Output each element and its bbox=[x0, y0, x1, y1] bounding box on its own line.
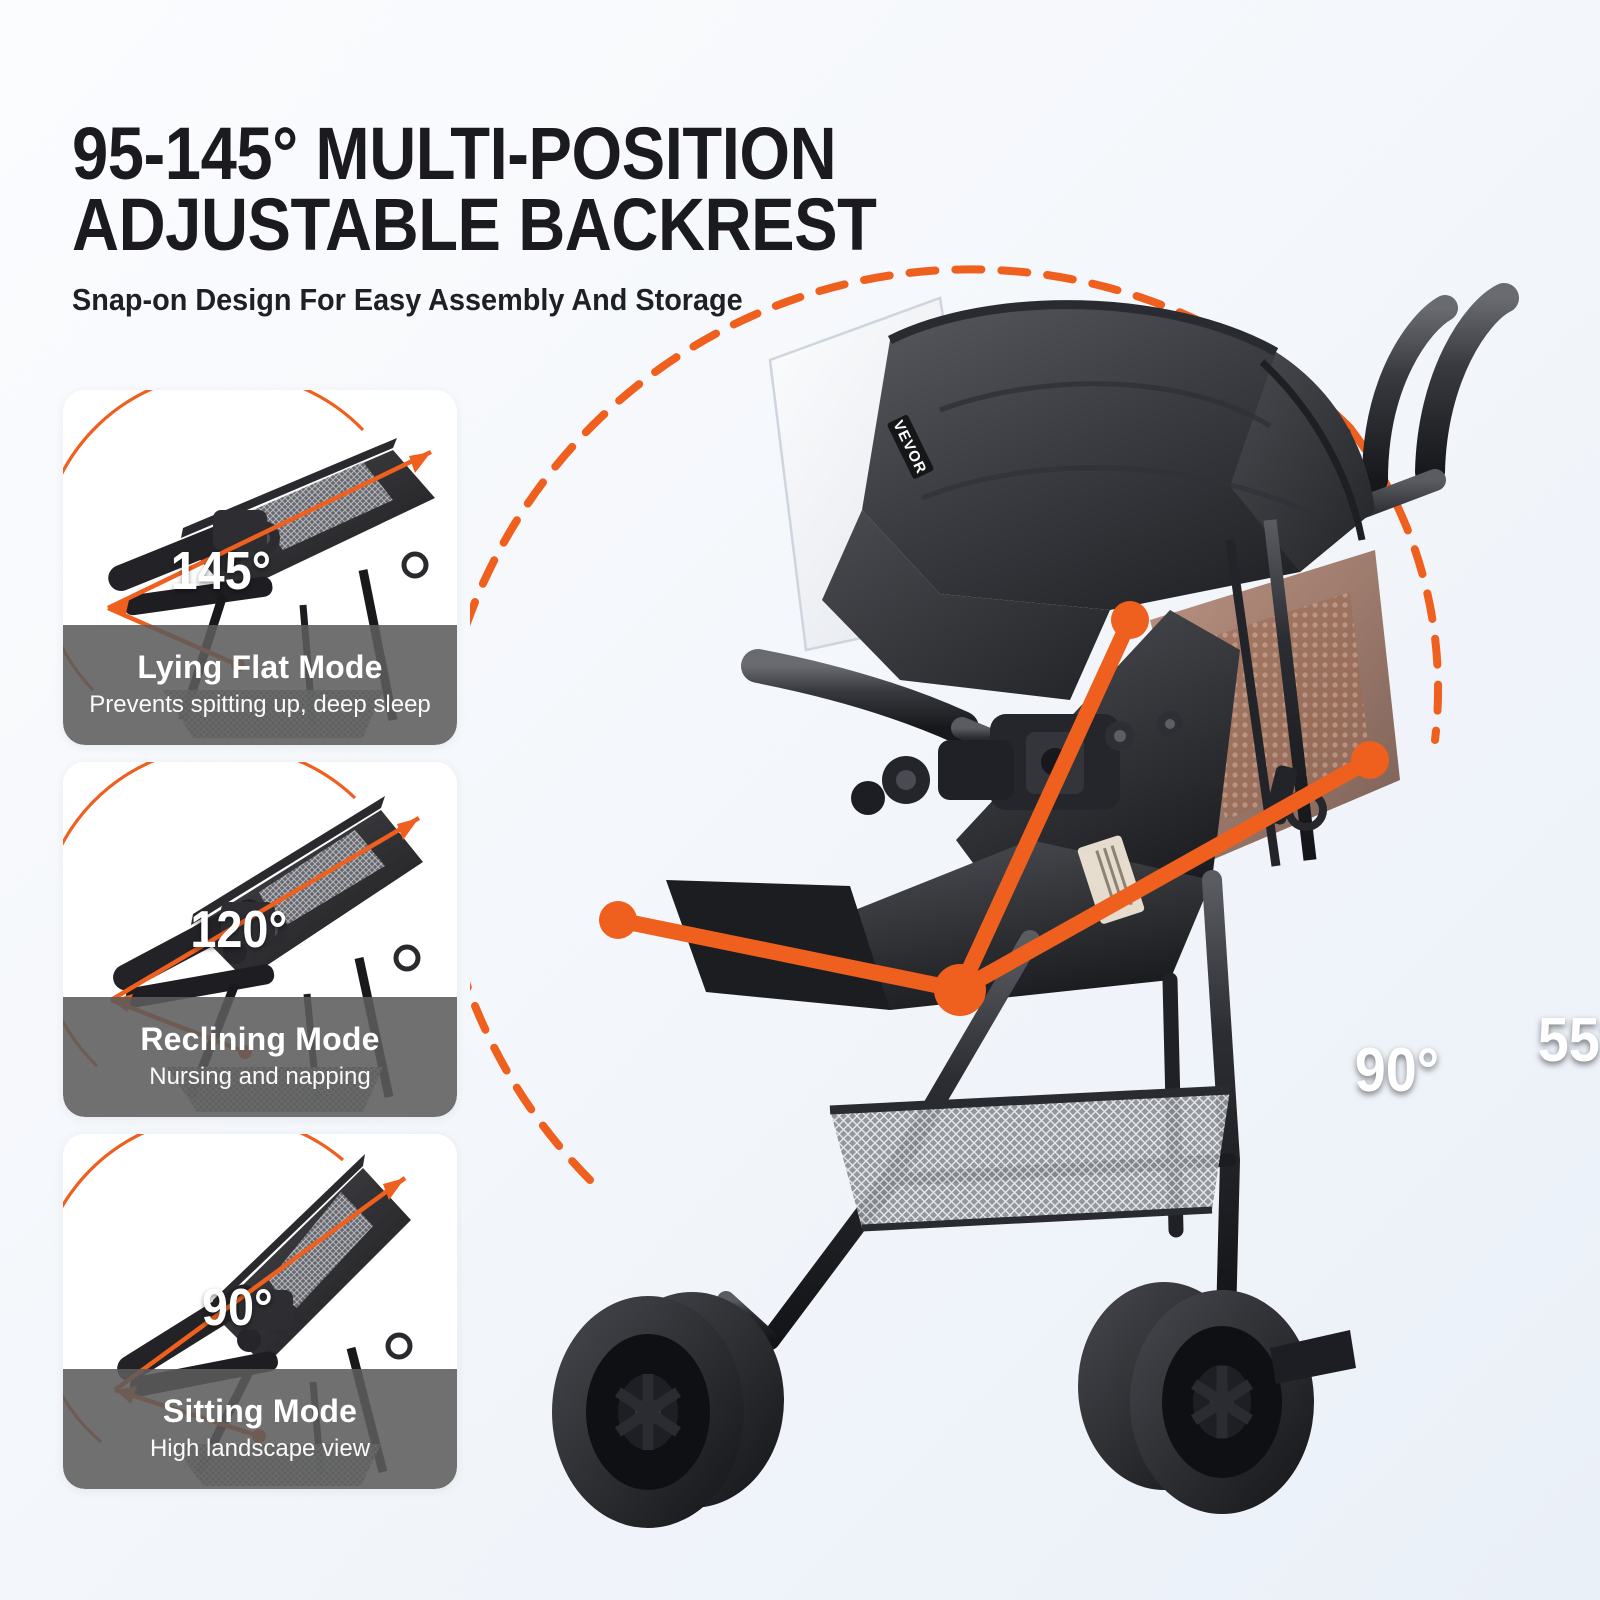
angle-endpoint-left bbox=[599, 901, 637, 939]
front-wheel-assembly bbox=[552, 1292, 784, 1528]
mode-card-title: Reclining Mode bbox=[140, 1023, 379, 1057]
mode-card-caption: Sitting Mode High landscape view bbox=[63, 1369, 457, 1489]
mode-card-caption: Lying Flat Mode Prevents spitting up, de… bbox=[63, 625, 457, 745]
mode-card-caption: Reclining Mode Nursing and napping bbox=[63, 997, 457, 1117]
mode-card-subtitle: Prevents spitting up, deep sleep bbox=[89, 691, 431, 719]
mode-card-sitting[interactable]: Sitting Mode High landscape view bbox=[63, 1134, 457, 1489]
mode-card-subtitle: Nursing and napping bbox=[149, 1063, 371, 1091]
mode-card-lying-flat[interactable]: Lying Flat Mode Prevents spitting up, de… bbox=[63, 390, 457, 745]
angle-endpoint-top bbox=[1111, 601, 1149, 639]
mode-card-subtitle: High landscape view bbox=[150, 1435, 370, 1463]
hero-product-image: VEVOR bbox=[470, 180, 1600, 1600]
stroller-main-illustration: VEVOR bbox=[470, 180, 1600, 1600]
angle-pivot-dot bbox=[934, 964, 986, 1016]
mode-card-title: Lying Flat Mode bbox=[137, 651, 382, 685]
rear-wheel-assembly bbox=[1078, 1282, 1356, 1514]
mode-card-reclining[interactable]: Reclining Mode Nursing and napping bbox=[63, 762, 457, 1117]
angle-endpoint-right bbox=[1351, 741, 1389, 779]
mode-card-title: Sitting Mode bbox=[163, 1395, 357, 1429]
page-title-line1: 95-145° MULTI-POSITION bbox=[72, 118, 864, 189]
